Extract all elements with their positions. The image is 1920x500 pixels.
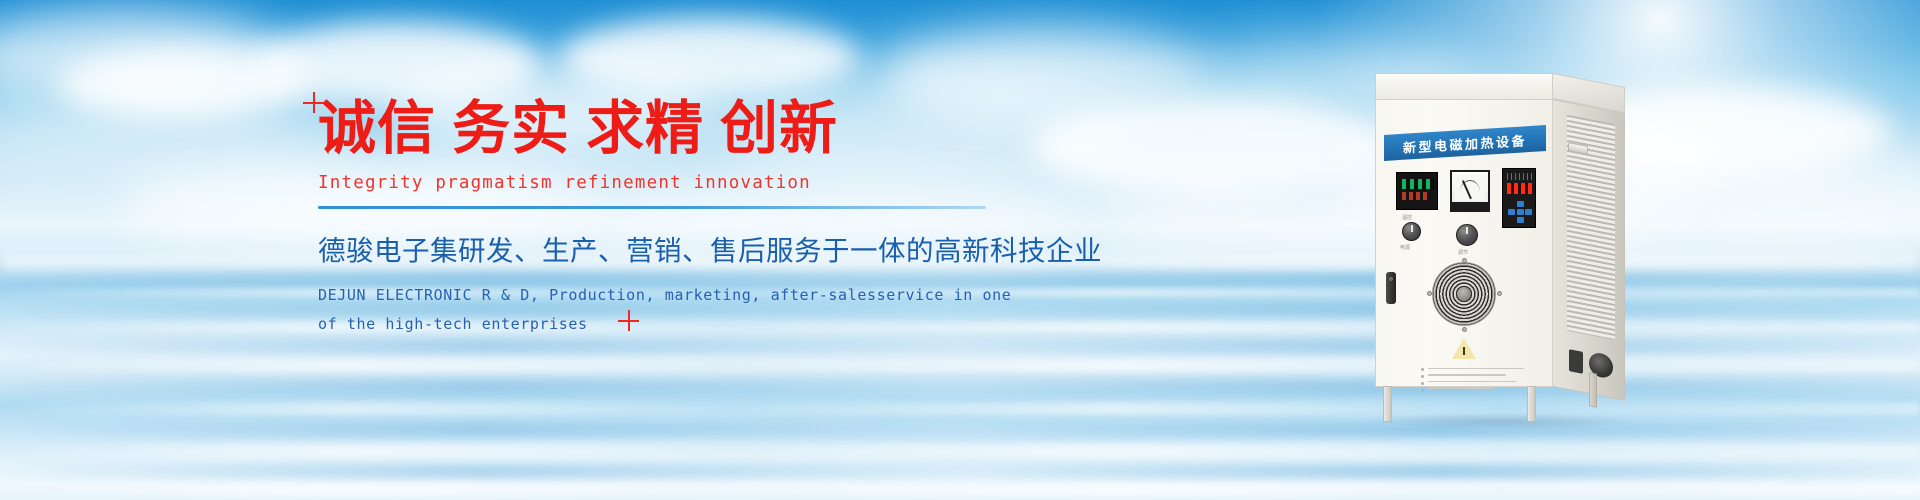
- digital-temperature-controller: [1396, 172, 1438, 210]
- product-image-electromagnetic-heater: 新型电磁加热设备 温控: [1375, 73, 1635, 423]
- section-divider: [318, 206, 986, 209]
- product-label: 新型电磁加热设备: [1384, 125, 1546, 161]
- promotional-banner: 诚信务实求精创新 Integrity pragmatism refinement…: [0, 0, 1920, 500]
- ammeter-face: [1455, 175, 1485, 201]
- keypad-left-button[interactable]: [1508, 209, 1515, 215]
- headline-translation: Integrity pragmatism refinement innovati…: [318, 173, 1018, 193]
- panel-keypad: [1508, 201, 1532, 224]
- door-latch-handle[interactable]: [1386, 272, 1396, 304]
- selector-knob-label: 调节: [1458, 249, 1468, 256]
- plus-icon: [303, 92, 324, 113]
- plus-icon: [618, 310, 639, 331]
- knob-indicator-mark: [1411, 225, 1413, 232]
- knob-indicator-mark: [1466, 227, 1468, 234]
- cooling-fan-grille: [1432, 262, 1496, 326]
- headline-word-3: 求精: [586, 94, 704, 162]
- company-description-en-line1: DEJUN ELECTRONIC R & D, Production, mark…: [318, 281, 1018, 310]
- ammeter-base: [1452, 202, 1488, 210]
- controller-red-display: [1402, 192, 1428, 200]
- product-shadow: [1369, 413, 1637, 429]
- panel-led-readout: [1507, 183, 1533, 194]
- water-band: [0, 444, 1920, 458]
- keypad-up-button[interactable]: [1517, 201, 1524, 207]
- selector-knob[interactable]: [1456, 224, 1478, 246]
- controller-caption: 温控: [1402, 214, 1412, 221]
- controller-green-display: [1402, 179, 1434, 189]
- company-description-cn: 德骏电子集研发、生产、营销、售后服务于一体的高新科技企业: [318, 228, 1018, 268]
- machine-leg: [1589, 372, 1597, 408]
- panel-indicator-strip: [1507, 173, 1533, 180]
- power-knob[interactable]: [1402, 222, 1421, 241]
- fan-hub: [1457, 287, 1471, 301]
- headline-word-1: 诚信: [318, 94, 436, 162]
- power-knob-label: 电源: [1400, 244, 1410, 251]
- machine-side-panel: [1553, 99, 1625, 401]
- fan-screw: [1497, 291, 1502, 296]
- high-voltage-warning-sticker: [1452, 338, 1476, 359]
- keypad-enter-button[interactable]: [1517, 209, 1524, 215]
- fan-screw: [1462, 327, 1467, 332]
- specification-sticker: [1428, 368, 1524, 394]
- machine-side-port: [1569, 349, 1583, 374]
- machine-top-panel: [1375, 73, 1553, 99]
- page-title: 诚信务实求精创新: [318, 96, 1018, 161]
- headline-word-2: 务实: [452, 94, 570, 162]
- company-description-en: DEJUN ELECTRONIC R & D, Production, mark…: [318, 281, 1018, 339]
- analog-ammeter: [1450, 170, 1490, 212]
- keypad-down-button[interactable]: [1517, 217, 1524, 223]
- banner-text-block: 诚信务实求精创新 Integrity pragmatism refinement…: [318, 96, 1018, 339]
- machine-leg: [1383, 386, 1392, 422]
- headline-word-4: 创新: [720, 94, 838, 162]
- keypad-right-button[interactable]: [1525, 209, 1532, 215]
- product-label-text: 新型电磁加热设备: [1403, 130, 1527, 157]
- red-led-display-panel: [1502, 168, 1536, 228]
- water-band: [0, 464, 1920, 479]
- fan-screw: [1427, 291, 1432, 296]
- machine-leg: [1527, 386, 1536, 422]
- machine-front-panel: 新型电磁加热设备 温控: [1375, 99, 1553, 387]
- company-description-en-line2: of the high-tech enterprises: [318, 310, 1018, 339]
- fan-screw: [1462, 258, 1467, 263]
- warning-exclamation: [1463, 347, 1465, 355]
- water-band: [0, 484, 1920, 496]
